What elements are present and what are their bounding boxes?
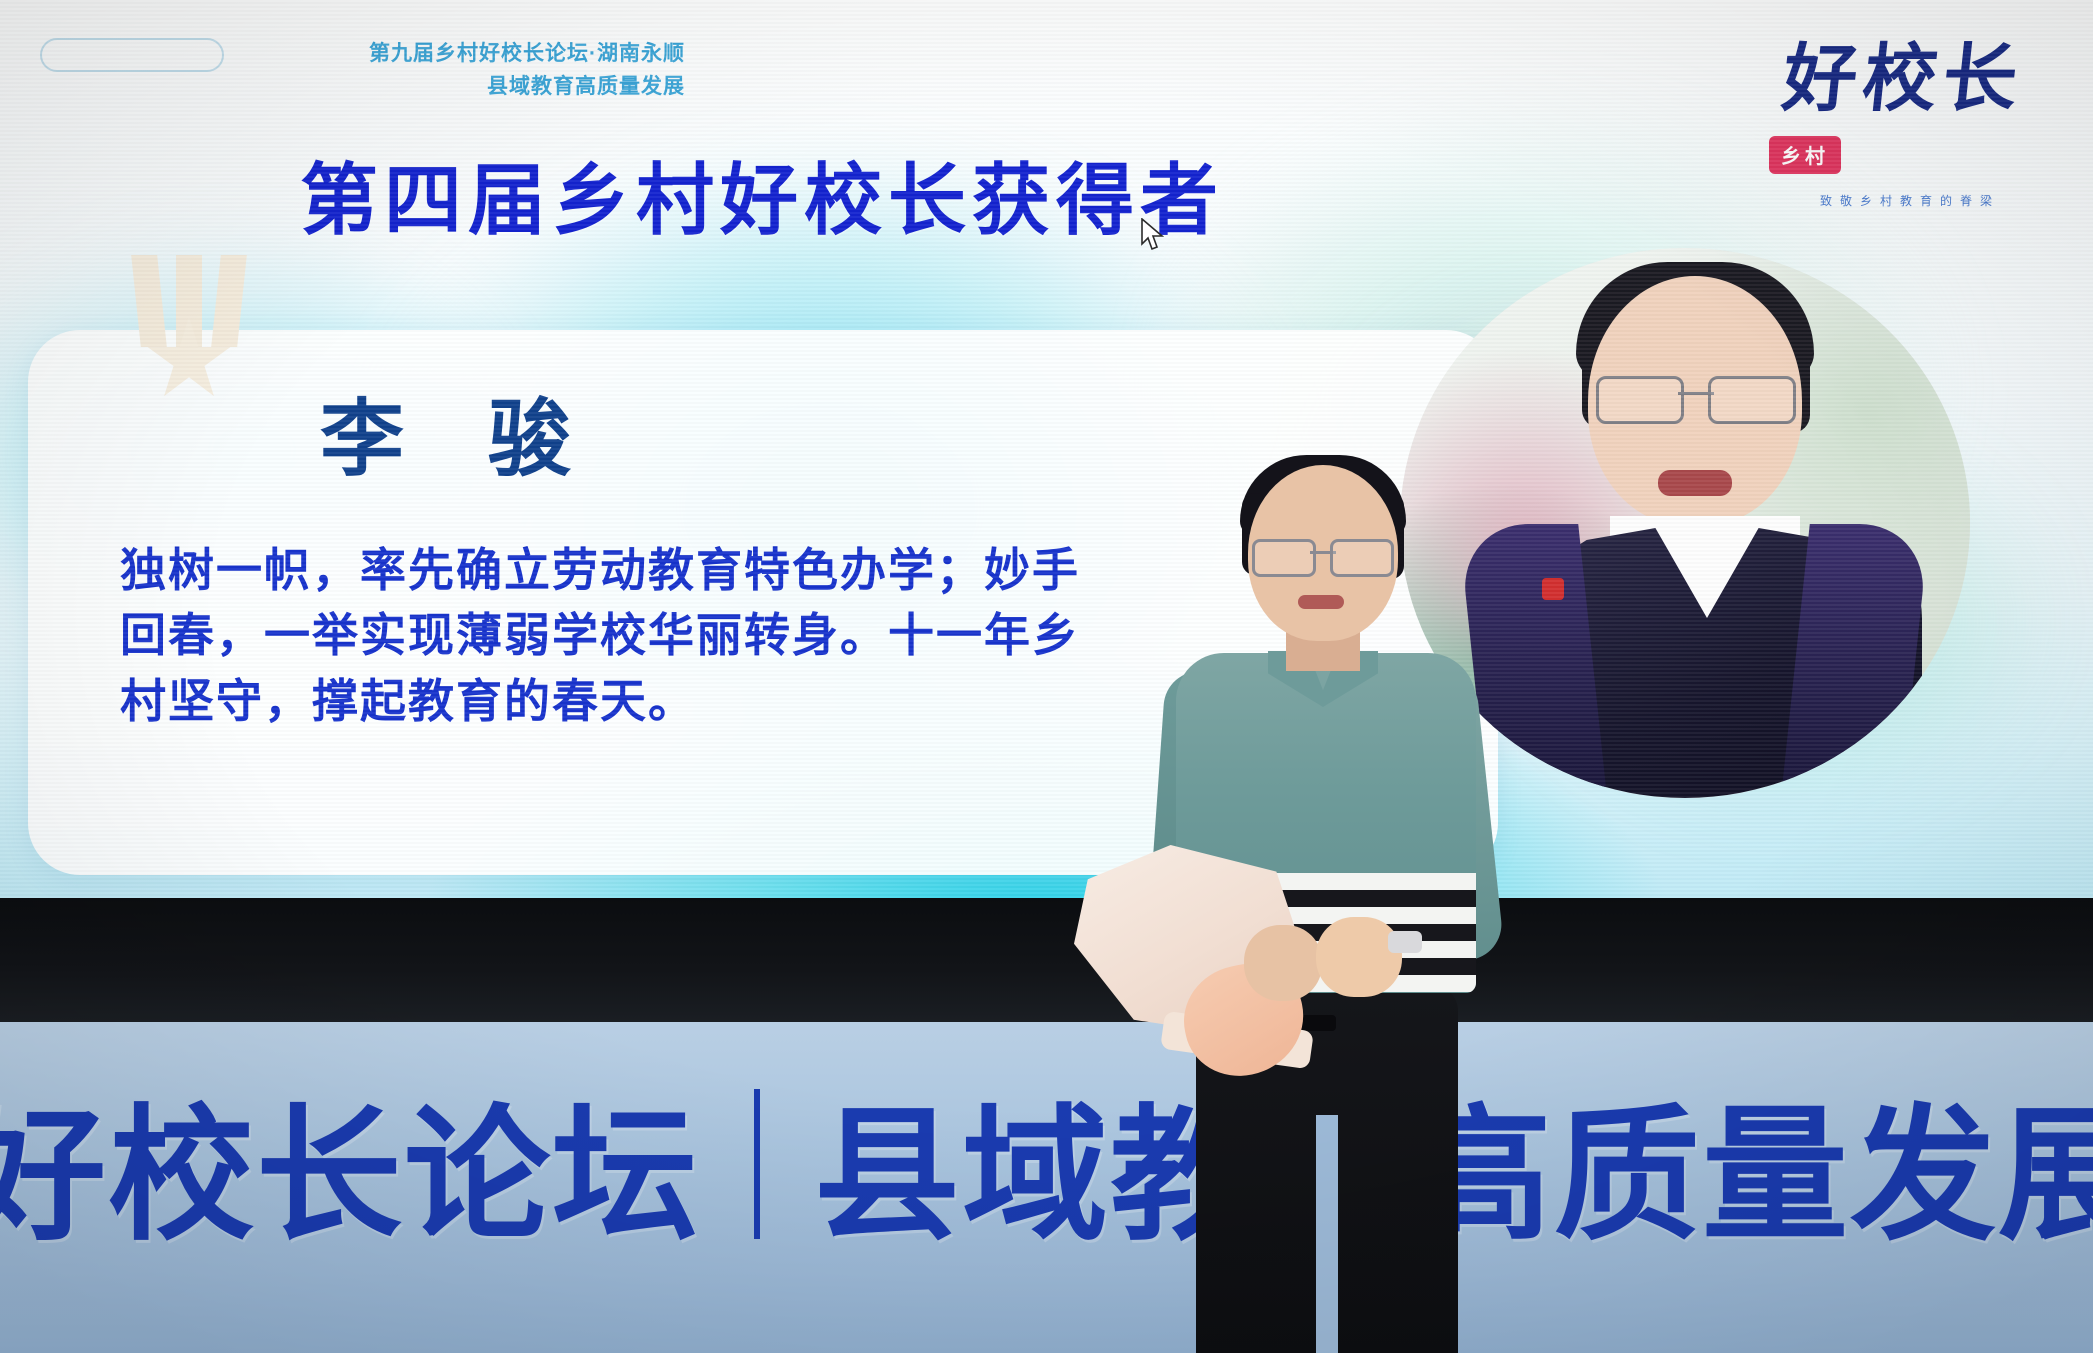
forum-logo: 好校长 乡村 致敬乡村教育的脊梁 bbox=[1753, 42, 2053, 192]
speaker-leg-gap bbox=[1316, 1115, 1338, 1353]
stage-banner: 好校长论坛 县域教育高质量发展 bbox=[0, 1058, 2093, 1269]
speaker-person bbox=[1140, 455, 1500, 1353]
banner-separator bbox=[754, 1089, 760, 1239]
led-screen: 第九届乡村好校长论坛·湖南永顺 县域教育高质量发展 第四届乡村好校长获得者 好校… bbox=[0, 0, 2093, 900]
logo-badge: 乡村 bbox=[1769, 136, 1841, 174]
citation-line-1: 独树一帜，率先确立劳动教育特色办学；妙手 bbox=[120, 538, 1250, 603]
slide-header-line-1: 第九届乡村好校长论坛·湖南永顺 bbox=[265, 38, 685, 71]
speaker-right-hand bbox=[1316, 917, 1402, 997]
slide-header-line-2: 县域教育高质量发展 bbox=[265, 71, 685, 104]
citation-line-3: 村坚守，撑起教育的春天。 bbox=[120, 669, 1250, 734]
speaker-left-hand bbox=[1244, 925, 1322, 1001]
mouse-cursor-icon bbox=[1140, 218, 1166, 252]
speaker-mouth bbox=[1298, 595, 1344, 609]
banner-left-text: 好校长论坛 bbox=[0, 1058, 700, 1269]
slide-header: 第九届乡村好校长论坛·湖南永顺 县域教育高质量发展 bbox=[265, 38, 685, 103]
medal-ribbon-icon bbox=[128, 255, 248, 415]
slide-title: 第四届乡村好校长获得者 bbox=[300, 138, 1224, 250]
citation-line-2: 回春，一举实现薄弱学校华丽转身。十一年乡 bbox=[120, 603, 1250, 668]
conference-stage-photo: 第九届乡村好校长论坛·湖南永顺 县域教育高质量发展 第四届乡村好校长获得者 好校… bbox=[0, 0, 2093, 1353]
speaker-wristband bbox=[1388, 931, 1422, 953]
awardee-name: 李 骏 bbox=[320, 372, 601, 493]
awardee-citation: 独树一帜，率先确立劳动教育特色办学；妙手 回春，一举实现薄弱学校华丽转身。十一年… bbox=[120, 538, 1250, 734]
stage-dark-band bbox=[0, 898, 2093, 1028]
logo-subtitle: 致敬乡村教育的脊梁 bbox=[1765, 192, 2055, 209]
decorative-pill-outline bbox=[40, 38, 224, 72]
logo-wordmark: 好校长 bbox=[1749, 42, 2057, 116]
lapel-pin-icon bbox=[1542, 578, 1564, 600]
speaker-glasses-icon bbox=[1252, 539, 1394, 571]
